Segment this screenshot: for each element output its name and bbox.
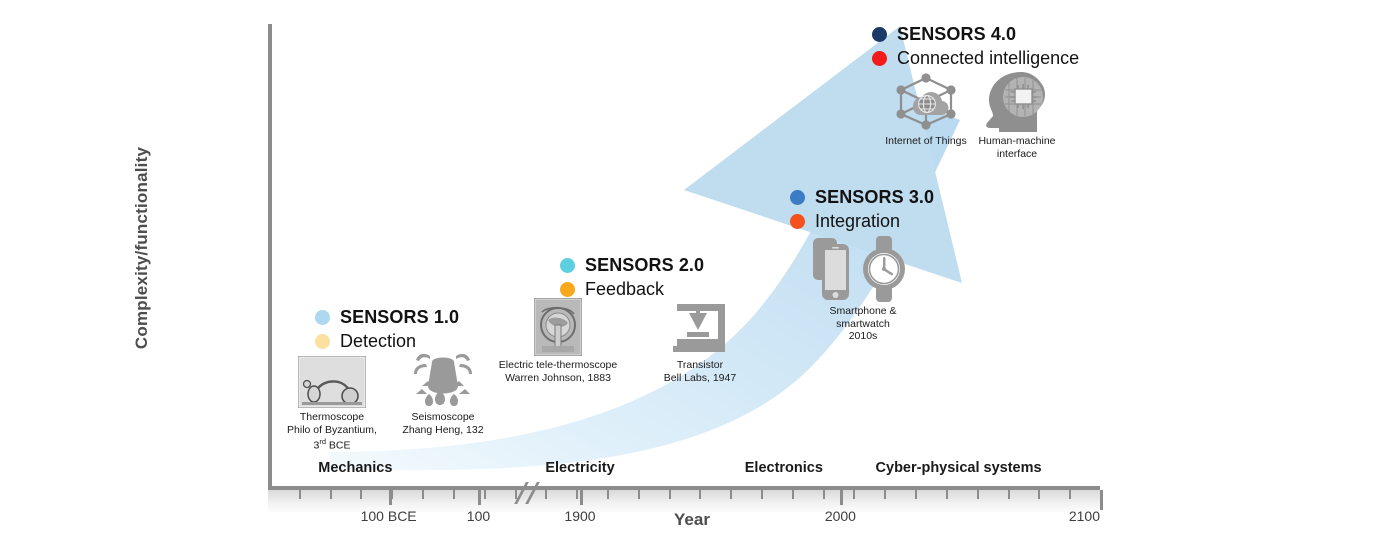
x-axis-minor-tick	[360, 490, 362, 499]
x-axis-minor-tick	[730, 490, 732, 499]
x-axis-minor-tick	[1069, 490, 1071, 499]
smartphone-smartwatch-caption: Smartphone & smartwatch 2010s	[778, 305, 948, 343]
sensors-2-title: SENSORS 2.0	[585, 255, 704, 276]
seismoscope-caption: Seismoscope Zhang Heng, 132	[368, 411, 518, 436]
x-axis-minor-tick	[823, 490, 825, 499]
sensors-4-title-row: SENSORS 4.0	[872, 22, 1079, 46]
x-axis-minor-tick	[699, 490, 701, 499]
tele-thermoscope-photo-icon	[468, 298, 648, 356]
sensors-4-subtitle: Connected intelligence	[897, 48, 1079, 69]
x-axis-major-tick	[1100, 490, 1103, 510]
x-axis-minor-tick	[607, 490, 609, 499]
sensors-1-title: SENSORS 1.0	[340, 307, 459, 328]
sensors-1-subtitle: Detection	[340, 331, 416, 352]
sensors-3-subtitle-row: Integration	[790, 209, 934, 233]
x-axis-major-tick	[389, 490, 392, 505]
x-axis-major-tick	[840, 490, 843, 505]
y-axis-label: Complexity/functionality	[132, 98, 152, 398]
sensors-1-title-dot	[315, 310, 330, 325]
sensors-1-header: SENSORS 1.0 Detection	[315, 305, 459, 353]
x-axis-tick-label: 100	[467, 508, 490, 524]
sensors-evolution-figure: Complexity/functionality 100 BCE10019002…	[0, 0, 1400, 560]
era-label: Mechanics	[318, 460, 392, 476]
human-machine-interface-caption: Human-machine interface	[942, 135, 1092, 160]
x-axis-minor-tick	[761, 490, 763, 499]
generation-sensors-4: SENSORS 4.0 Connected intelligence	[872, 22, 1079, 70]
transistor-caption: Transistor Bell Labs, 1947	[625, 359, 775, 384]
sensors-4-title: SENSORS 4.0	[897, 24, 1016, 45]
artifact-transistor: Transistor Bell Labs, 1947	[625, 298, 775, 384]
generation-sensors-3: SENSORS 3.0 Integration	[790, 185, 934, 233]
sensors-2-subtitle: Feedback	[585, 279, 664, 300]
artifact-tele-thermoscope: Electric tele-thermoscope Warren Johnson…	[468, 298, 648, 384]
era-label: Cyber-physical systems	[876, 460, 1042, 476]
artifact-smartphone-smartwatch: Smartphone & smartwatch 2010s	[778, 236, 948, 343]
smartphone-smartwatch-glyph-icon	[778, 236, 948, 302]
transistor-glyph-icon	[625, 298, 775, 356]
sensors-4-title-dot	[872, 27, 887, 42]
generation-sensors-2: SENSORS 2.0 Feedback	[560, 253, 704, 301]
x-axis-tick-label: 2000	[825, 508, 856, 524]
sensors-3-title-dot	[790, 190, 805, 205]
sensors-2-title-row: SENSORS 2.0	[560, 253, 704, 277]
x-axis-tick-label: 1900	[564, 508, 595, 524]
x-axis-minor-tick	[1008, 490, 1010, 499]
sensors-3-title-row: SENSORS 3.0	[790, 185, 934, 209]
x-axis-minor-tick	[299, 490, 301, 499]
x-axis-minor-tick	[853, 490, 855, 499]
x-axis-minor-tick	[792, 490, 794, 499]
sensors-4-subtitle-dot	[872, 51, 887, 66]
sensors-3-subtitle: Integration	[815, 211, 900, 232]
artifact-human-machine-interface: Human-machine interface	[942, 74, 1092, 160]
x-axis-tick-label: 100 BCE	[361, 508, 417, 524]
x-axis-minor-tick	[669, 490, 671, 499]
x-axis-minor-tick	[946, 490, 948, 499]
x-axis-label: Year	[632, 510, 752, 530]
sensors-3-header: SENSORS 3.0 Integration	[790, 185, 934, 233]
sensors-2-title-dot	[560, 258, 575, 273]
x-axis-minor-tick	[422, 490, 424, 499]
era-label: Electronics	[745, 460, 823, 476]
sensors-1-subtitle-dot	[315, 334, 330, 349]
sensors-3-title: SENSORS 3.0	[815, 187, 934, 208]
sensors-2-subtitle-dot	[560, 282, 575, 297]
sensors-2-header: SENSORS 2.0 Feedback	[560, 253, 704, 301]
x-axis-major-tick	[580, 490, 583, 505]
x-axis-major-tick	[478, 490, 481, 505]
x-axis-tick-label: 2100	[1069, 508, 1100, 524]
era-label: Electricity	[545, 460, 614, 476]
human-machine-interface-glyph-icon	[942, 74, 1092, 132]
x-axis-minor-tick	[1038, 490, 1040, 499]
generation-sensors-1: SENSORS 1.0 Detection	[315, 305, 459, 353]
x-axis-minor-tick	[638, 490, 640, 499]
x-axis-minor-tick	[576, 490, 578, 499]
x-axis-minor-tick	[330, 490, 332, 499]
tele-thermoscope-caption: Electric tele-thermoscope Warren Johnson…	[468, 359, 648, 384]
x-axis-break-symbol	[516, 482, 546, 504]
sensors-1-title-row: SENSORS 1.0	[315, 305, 459, 329]
x-axis-minor-tick	[484, 490, 486, 499]
x-axis-minor-tick	[915, 490, 917, 499]
sensors-3-subtitle-dot	[790, 214, 805, 229]
sensors-4-header: SENSORS 4.0 Connected intelligence	[872, 22, 1079, 70]
sensors-4-subtitle-row: Connected intelligence	[872, 46, 1079, 70]
x-axis-minor-tick	[977, 490, 979, 499]
x-axis-minor-tick	[884, 490, 886, 499]
x-axis-minor-tick	[453, 490, 455, 499]
